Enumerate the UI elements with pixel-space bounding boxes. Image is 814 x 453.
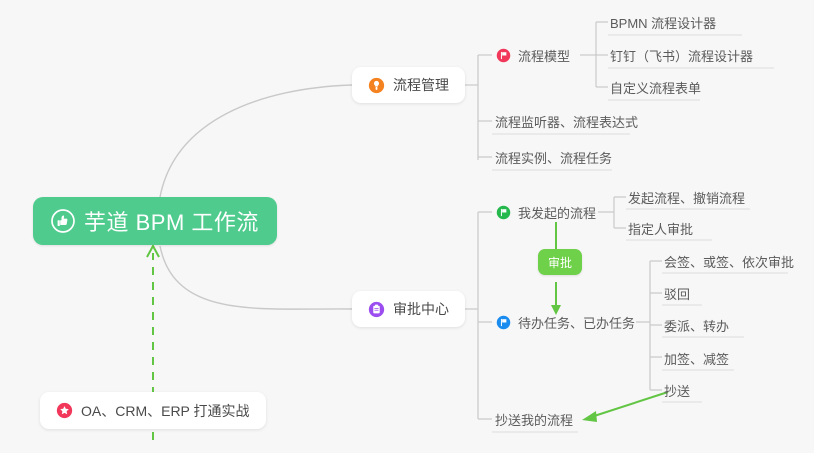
node-countersign-orsign-sequential[interactable]: 会签、或签、依次审批 [660,248,798,274]
node-label: 抄送我的流程 [495,410,573,429]
node-label: BPMN 流程设计器 [610,13,716,32]
node-label: 会签、或签、依次审批 [664,252,794,271]
node-reject[interactable]: 驳回 [660,280,694,306]
node-label: OA、CRM、ERP 打通实战 [81,401,250,421]
lightbulb-pin-icon [368,77,385,94]
node-label: 流程模型 [518,46,570,65]
node-assigned-approval[interactable]: 指定人审批 [624,215,697,241]
link-root-to-approval-center [160,246,352,309]
link-root-to-process-management [160,85,352,197]
flag-icon [496,205,511,220]
node-add-remove-sign[interactable]: 加签、减签 [660,345,733,371]
node-label: 钉钉（飞书）流程设计器 [610,46,753,65]
node-dingtalk-feishu-designer[interactable]: 钉钉（飞书）流程设计器 [606,42,757,68]
node-label: 流程监听器、流程表达式 [495,112,638,131]
node-process-model[interactable]: 流程模型 [492,42,574,68]
node-oa-crm-erp[interactable]: OA、CRM、ERP 打通实战 [40,392,266,429]
node-label: 流程实例、流程任务 [495,148,612,167]
node-process-listener-expression[interactable]: 流程监听器、流程表达式 [491,108,642,134]
node-label: 加签、减签 [664,349,729,368]
mindmap-canvas: 芋道 BPM 工作流 流程管理 流程模型 BPMN 流程设计器 钉钉（飞书）流程… [0,0,814,453]
branch-label: 流程管理 [393,75,449,95]
node-label: 指定人审批 [628,219,693,238]
node-label: 自定义流程表单 [610,78,701,97]
approval-flow-tag[interactable]: 审批 [538,249,582,275]
clipboard-icon [368,301,385,318]
star-icon [56,402,73,419]
node-cc-to-me-process[interactable]: 抄送我的流程 [491,406,577,432]
flag-icon [496,315,511,330]
node-label: 发起流程、撤销流程 [628,188,745,207]
node-label: 驳回 [664,284,690,303]
node-bpmn-designer[interactable]: BPMN 流程设计器 [606,9,720,35]
node-cc[interactable]: 抄送 [660,377,694,403]
thumbs-up-icon [51,209,75,233]
arrow-oa-head [147,246,159,257]
arrow-cc-head [582,411,597,422]
root-node[interactable]: 芋道 BPM 工作流 [33,197,277,245]
node-label: 委派、转办 [664,316,729,335]
node-my-initiated-process[interactable]: 我发起的流程 [492,199,600,225]
node-custom-process-form[interactable]: 自定义流程表单 [606,74,705,100]
node-todo-done-tasks[interactable]: 待办任务、已办任务 [492,309,639,335]
node-label: 我发起的流程 [518,203,596,222]
arrow-cc-to-ccme [588,392,668,418]
node-start-cancel-process[interactable]: 发起流程、撤销流程 [624,184,749,210]
node-label: 待办任务、已办任务 [518,313,635,332]
node-process-instance-task[interactable]: 流程实例、流程任务 [491,144,616,170]
flag-icon [496,48,511,63]
branch-process-management[interactable]: 流程管理 [352,67,465,103]
branch-approval-center[interactable]: 审批中心 [352,291,465,327]
node-label: 抄送 [664,381,690,400]
root-label: 芋道 BPM 工作流 [84,205,259,237]
node-delegate-transfer[interactable]: 委派、转办 [660,312,733,338]
approval-flow-tag-label: 审批 [548,254,572,271]
branch-label: 审批中心 [393,299,449,319]
